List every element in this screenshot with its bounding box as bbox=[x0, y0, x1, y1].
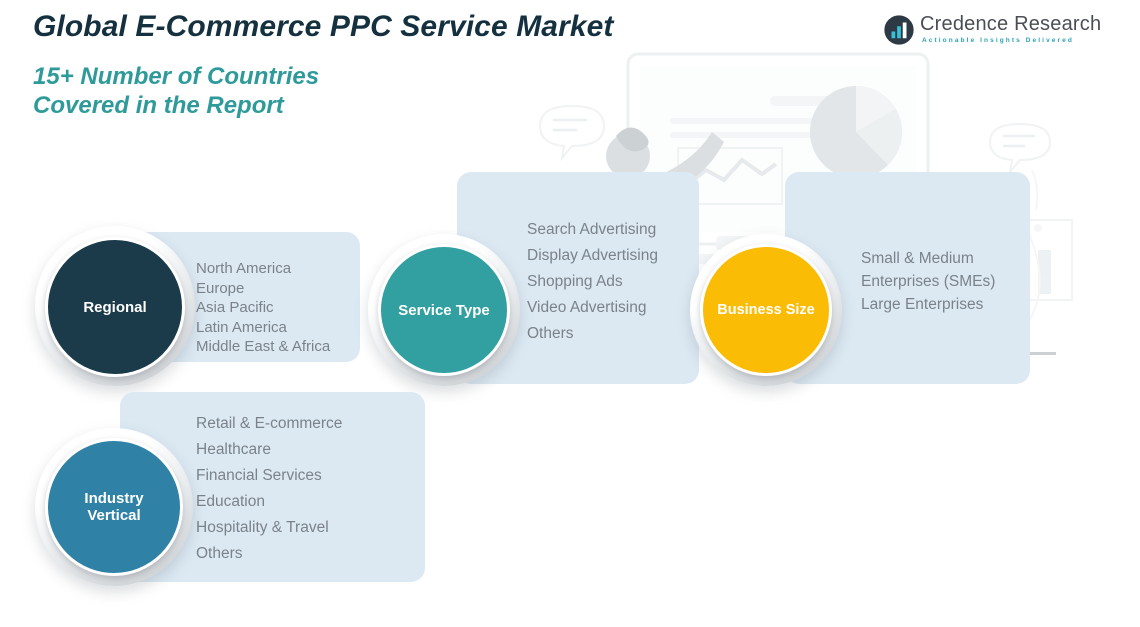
bar-chart-circle-icon bbox=[884, 15, 914, 45]
segment-industry-vertical-circle[interactable]: Industry Vertical bbox=[45, 438, 183, 576]
segment-business-size-circle[interactable]: Business Size bbox=[700, 244, 832, 376]
segment-business-size-label: Business Size bbox=[717, 302, 815, 319]
logo-tagline: Actionable Insights Delivered bbox=[922, 37, 1074, 44]
segment-service-type-label: Service Type bbox=[398, 302, 489, 319]
segment-regional-circle[interactable]: Regional bbox=[45, 237, 185, 377]
infographic-canvas: Global E-Commerce PPC Service Market 15+… bbox=[0, 0, 1140, 627]
segment-business-size-items: Small & Medium Enterprises (SMEs) Large … bbox=[861, 247, 1041, 316]
segment-industry-vertical-items: Retail & E-commerce Healthcare Financial… bbox=[196, 411, 426, 567]
segment-regional-label: Regional bbox=[83, 299, 146, 316]
segment-regional-items: North America Europe Asia Pacific Latin … bbox=[196, 259, 368, 357]
page-subtitle: 15+ Number of Countries Covered in the R… bbox=[33, 62, 319, 120]
segment-industry-vertical-label: Industry Vertical bbox=[84, 490, 143, 524]
segment-service-type-items: Search Advertising Display Advertising S… bbox=[527, 217, 705, 347]
segment-service-type-circle[interactable]: Service Type bbox=[378, 244, 510, 376]
brand-logo[interactable]: Credence Research Actionable Insights De… bbox=[884, 13, 1069, 51]
page-title: Global E-Commerce PPC Service Market bbox=[33, 10, 614, 44]
logo-name: Credence Research bbox=[920, 13, 1101, 36]
